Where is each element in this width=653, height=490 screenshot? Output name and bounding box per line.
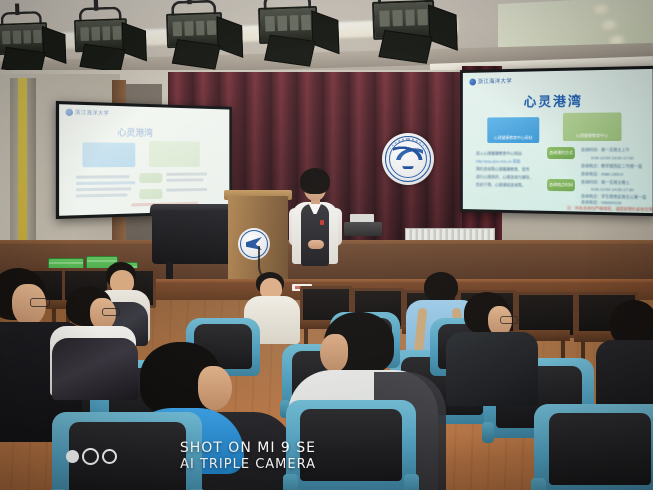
speaker-hands (308, 240, 324, 249)
slide-detail-2b: 9:00-12:00 14:00-17:30 (591, 186, 634, 192)
screen-left-washout (59, 104, 229, 216)
slide-card-blue: 心理健康教育中心网站 (487, 117, 539, 143)
projection-screen-right: 浙江海洋大学 心灵港湾 心理健康教育中心网站 心理健康教育中心 进入心理健康教育… (460, 66, 653, 216)
watermark-line-1: SHOT ON MI 9 SE (116, 440, 316, 457)
slide-detail-1a: 咨询时间：周一至周五上午 (581, 147, 630, 153)
projection-screen-left: 浙江海洋大学 心灵港湾 (56, 101, 232, 219)
slide-card-green: 心理健康教育中心 (563, 112, 622, 141)
theater-seat (534, 404, 653, 490)
slide-detail-1b: 9:00-12:00 14:00-17:00 (591, 155, 634, 160)
speaker-hair (300, 168, 330, 194)
lecture-hall-photo: .lamp{top:auto !important;} [data-name="… (0, 0, 653, 490)
slide-bullet-3: 预约咨询等心理健康教育、宣传 (476, 166, 530, 172)
stage-equipment-box (344, 222, 382, 236)
slide-bullet-1: 进入心理健康教育中心网站 (476, 151, 522, 157)
slide-card-green-caption: 心理健康教育中心 (563, 133, 622, 139)
eyeglasses (102, 308, 120, 316)
watermark-line-2: AI TRIPLE CAMERA (116, 457, 316, 473)
slide-tag-1: 咨询预约方式 (547, 147, 575, 159)
slide-detail-1c: 咨询地点：教学楼西区二号楼一层 (581, 163, 642, 170)
slide-bullet-2: http://psy.zjou.edu.cn 获取 (476, 159, 520, 165)
slide-bullet-4: 进行心理测评、心理咨询与辅导、 (476, 174, 533, 181)
slide-bullet-5: 危机干预、心理课程咨询等。 (476, 182, 526, 189)
slide-logo-icon-right (469, 78, 476, 85)
eyeglasses (500, 316, 518, 324)
slide-title-right: 心灵港湾 (524, 91, 583, 111)
camera-watermark: SHOT ON MI 9 SE AI TRIPLE CAMERA (66, 440, 366, 486)
eyeglasses (30, 298, 50, 307)
slide-detail-1d: 咨询电话：0580-2551X (581, 171, 623, 178)
slide-card-blue-caption: 心理健康教育中心网站 (487, 135, 539, 141)
slide-detail-2a: 咨询时间：周一至周五晚上 (581, 179, 630, 186)
slide-footnote: 注：所有咨询均严格保密，请提前预约或电话预约咨询时间 (567, 205, 653, 213)
speaker-badge (320, 220, 324, 225)
university-seal-wave-emblem (382, 133, 434, 185)
slide-logo-text-right: 浙江海洋大学 (478, 77, 512, 85)
camera-lens-icon (66, 448, 117, 465)
slide-tag-2: 咨询地点时间 (547, 179, 575, 191)
